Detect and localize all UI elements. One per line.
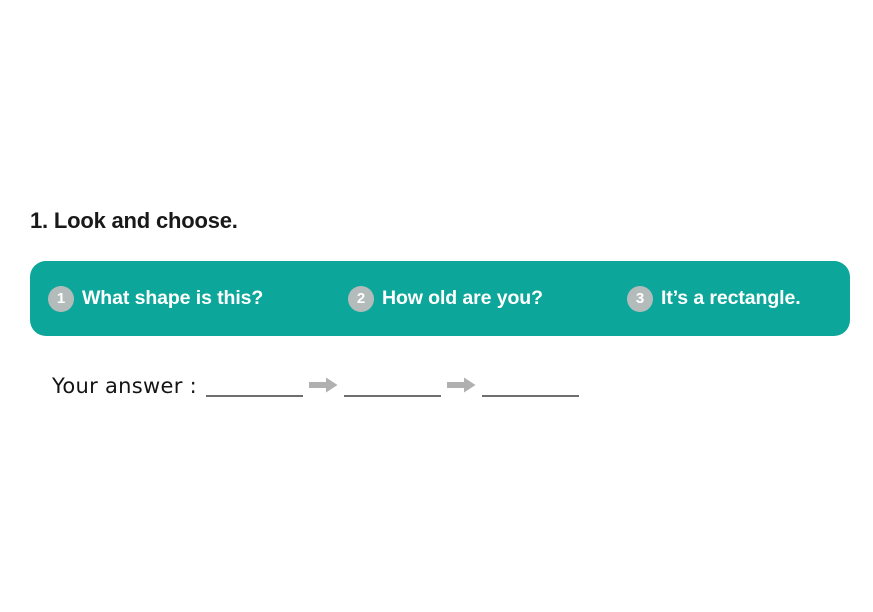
answer-row: Your answer : <box>52 366 579 400</box>
page-title: 1. Look and choose. <box>30 208 238 234</box>
option-number-badge-3: 3 <box>627 286 653 312</box>
option-number-badge-1: 1 <box>48 286 74 312</box>
option-number-badge-2: 2 <box>348 286 374 312</box>
answer-blank-2[interactable] <box>344 395 441 397</box>
option-label-3: It’s a rectangle. <box>661 287 801 310</box>
option-banner: 1 What shape is this? 2 How old are you?… <box>30 261 850 336</box>
worksheet-page: 1. Look and choose. 1 What shape is this… <box>0 0 873 612</box>
option-item-3[interactable]: 3 It’s a rectangle. <box>627 261 801 336</box>
arrow-right-icon <box>309 377 338 393</box>
answer-label: Your answer : <box>52 376 197 400</box>
option-label-2: How old are you? <box>382 287 543 310</box>
option-item-2[interactable]: 2 How old are you? <box>348 261 543 336</box>
option-item-1[interactable]: 1 What shape is this? <box>48 261 263 336</box>
arrow-right-icon <box>447 377 476 393</box>
option-label-1: What shape is this? <box>82 287 263 310</box>
answer-blank-3[interactable] <box>482 395 579 397</box>
answer-blank-1[interactable] <box>206 395 303 397</box>
